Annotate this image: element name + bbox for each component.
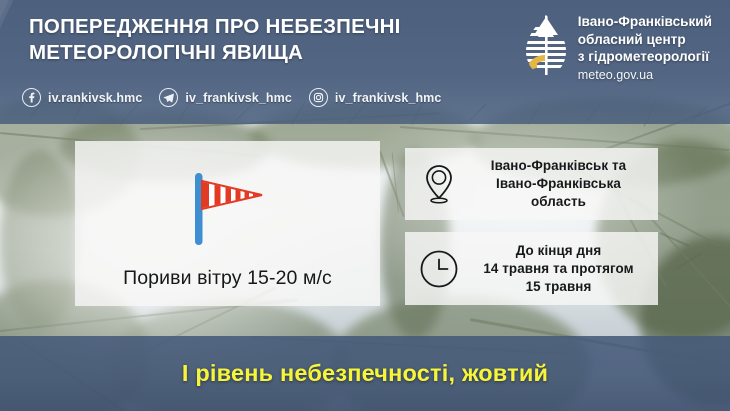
social-link-instagram[interactable]: iv_frankivsk_hmc	[309, 88, 442, 107]
social-links: iv.rankivsk.hmc iv_frankivsk_hmc	[22, 88, 441, 107]
weather-warning-poster: ПОПЕРЕДЖЕННЯ ПРО НЕБЕЗПЕЧНІ МЕТЕОРОЛОГІЧ…	[0, 0, 730, 411]
telegram-icon	[159, 88, 178, 107]
foliage-blob	[0, 150, 80, 330]
facebook-icon	[22, 88, 41, 107]
hazard-caption: Пориви вітру 15-20 м/с	[75, 267, 380, 290]
social-link-facebook[interactable]: iv.rankivsk.hmc	[22, 88, 142, 107]
social-link-telegram[interactable]: iv_frankivsk_hmc	[159, 88, 292, 107]
windsock-icon	[188, 171, 278, 256]
social-handle-facebook: iv.rankivsk.hmc	[48, 91, 142, 105]
hydrometeorology-emblem-icon	[524, 13, 568, 81]
page-title: ПОПЕРЕДЖЕННЯ ПРО НЕБЕЗПЕЧНІ МЕТЕОРОЛОГІЧ…	[29, 14, 459, 66]
social-handle-instagram: iv_frankivsk_hmc	[335, 91, 442, 105]
warning-level-text: І рівень небезпечності, жовтий	[182, 360, 548, 387]
time-card: До кінця дня 14 травня та протягом 15 тр…	[405, 232, 658, 305]
clock-icon	[415, 248, 463, 290]
header-band: ПОПЕРЕДЖЕННЯ ПРО НЕБЕЗПЕЧНІ МЕТЕОРОЛОГІЧ…	[0, 0, 730, 124]
warning-level-banner: І рівень небезпечності, жовтий	[0, 336, 730, 411]
location-text: Івано-Франківськ та Івано-Франківська об…	[471, 157, 646, 211]
social-handle-telegram: iv_frankivsk_hmc	[185, 91, 292, 105]
logo-text-block: Івано-Франківський обласний центр з гідр…	[578, 13, 712, 84]
location-card: Івано-Франківськ та Івано-Франківська об…	[405, 148, 658, 220]
time-text: До кінця дня 14 травня та протягом 15 тр…	[471, 242, 646, 296]
map-pin-icon	[415, 162, 463, 206]
instagram-icon	[309, 88, 328, 107]
hazard-panel: Пориви вітру 15-20 м/с	[75, 141, 380, 306]
organization-logo: Івано-Франківський обласний центр з гідр…	[524, 13, 712, 84]
organization-website: meteo.gov.ua	[578, 66, 712, 84]
organization-name: Івано-Франківський обласний центр з гідр…	[578, 13, 712, 66]
